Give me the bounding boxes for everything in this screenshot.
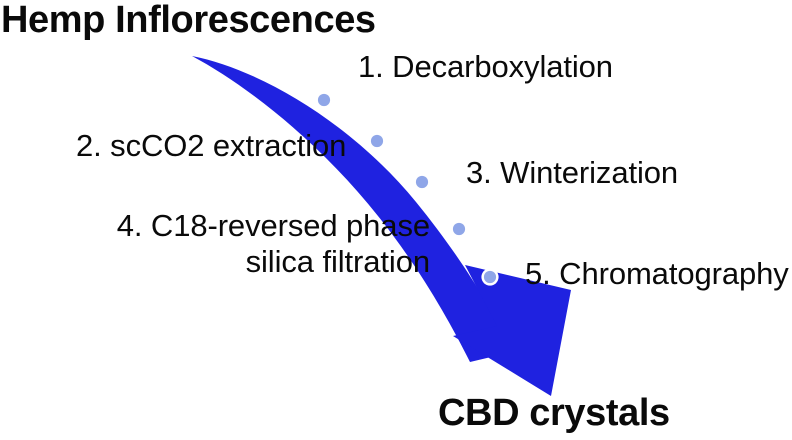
outcome-label-cbd-crystals: CBD crystals [438, 391, 670, 435]
figure-title-hemp-inflorescences: Hemp Inflorescences [1, 0, 376, 42]
step-4-line-1: 4. C18-reversed phase [117, 208, 430, 243]
step-marker-4-core [453, 223, 465, 235]
step-label-decarboxylation: 1. Decarboxylation [358, 49, 613, 85]
step-label-c18-reversed-phase-silica-filtration: 4. C18-reversed phasesilica filtration [100, 208, 430, 280]
step-label-winterization: 3. Winterization [466, 155, 678, 191]
step-marker-2-core [371, 135, 383, 147]
step-marker-1-core [318, 94, 330, 106]
step-4-line-2: silica filtration [246, 244, 430, 279]
step-label-scco2-extraction: 2. scCO2 extraction [76, 128, 346, 164]
step-label-chromatography: 5. Chromatography [525, 256, 789, 292]
step-marker-3-core [416, 176, 428, 188]
step-marker-5-core [484, 271, 496, 283]
process-flow-figure: Hemp Inflorescences 1. Decarboxylation 2… [0, 0, 792, 440]
